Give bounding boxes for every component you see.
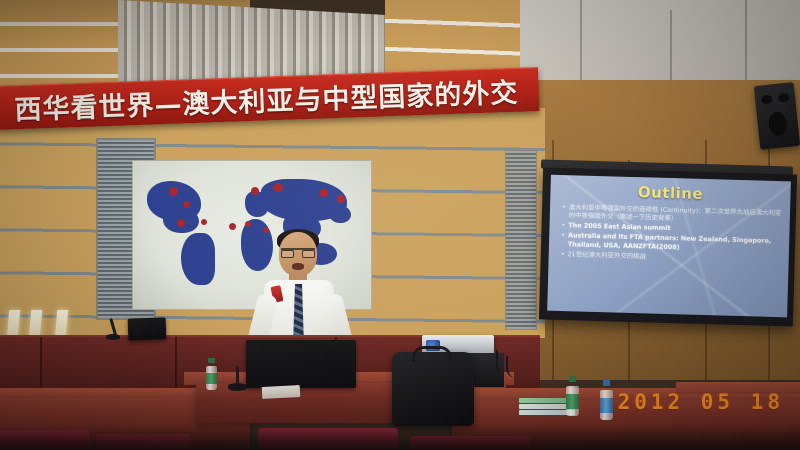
bullet-marker: •	[562, 203, 566, 220]
bag-handle	[412, 346, 452, 362]
collar-right	[303, 280, 312, 291]
water-bottle	[566, 376, 579, 416]
water-bottle	[600, 380, 613, 420]
mouth	[292, 263, 304, 270]
slide-bullet-list: • 澳大利亚中等强国外交的连续性 (Continuity)：第二次世界大战后澳大…	[557, 203, 782, 264]
lecture-hall-photo: 西华看世界—澳大利亚与中型国家的外交 Outline	[0, 0, 800, 450]
vignette-bottom	[0, 424, 800, 450]
wall-vent-right	[505, 150, 537, 330]
bullet-marker: •	[561, 231, 565, 248]
camera-timestamp: 2012 05 18	[618, 390, 784, 414]
monitor	[128, 317, 167, 340]
bullet-marker: •	[561, 221, 565, 230]
collar-left	[282, 280, 291, 291]
projection-screen: Outline • 澳大利亚中等强国外交的连续性 (Continuity)：第二…	[539, 167, 797, 326]
microphone-base	[228, 383, 247, 391]
shoulder-bag	[392, 352, 474, 426]
presentation-slide: Outline • 澳大利亚中等强国外交的连续性 (Continuity)：第二…	[547, 175, 791, 318]
papers	[262, 385, 301, 399]
loudspeaker-icon	[754, 82, 800, 150]
slide-title: Outline	[558, 181, 782, 205]
laptop	[246, 340, 356, 388]
bullet-marker: •	[561, 250, 565, 259]
microphone-base	[106, 334, 120, 340]
cable	[506, 356, 518, 378]
water-bottle	[206, 358, 217, 390]
bullet-text: 21世纪澳大利亚外交的挑战	[567, 250, 646, 261]
glasses-icon	[281, 248, 315, 256]
